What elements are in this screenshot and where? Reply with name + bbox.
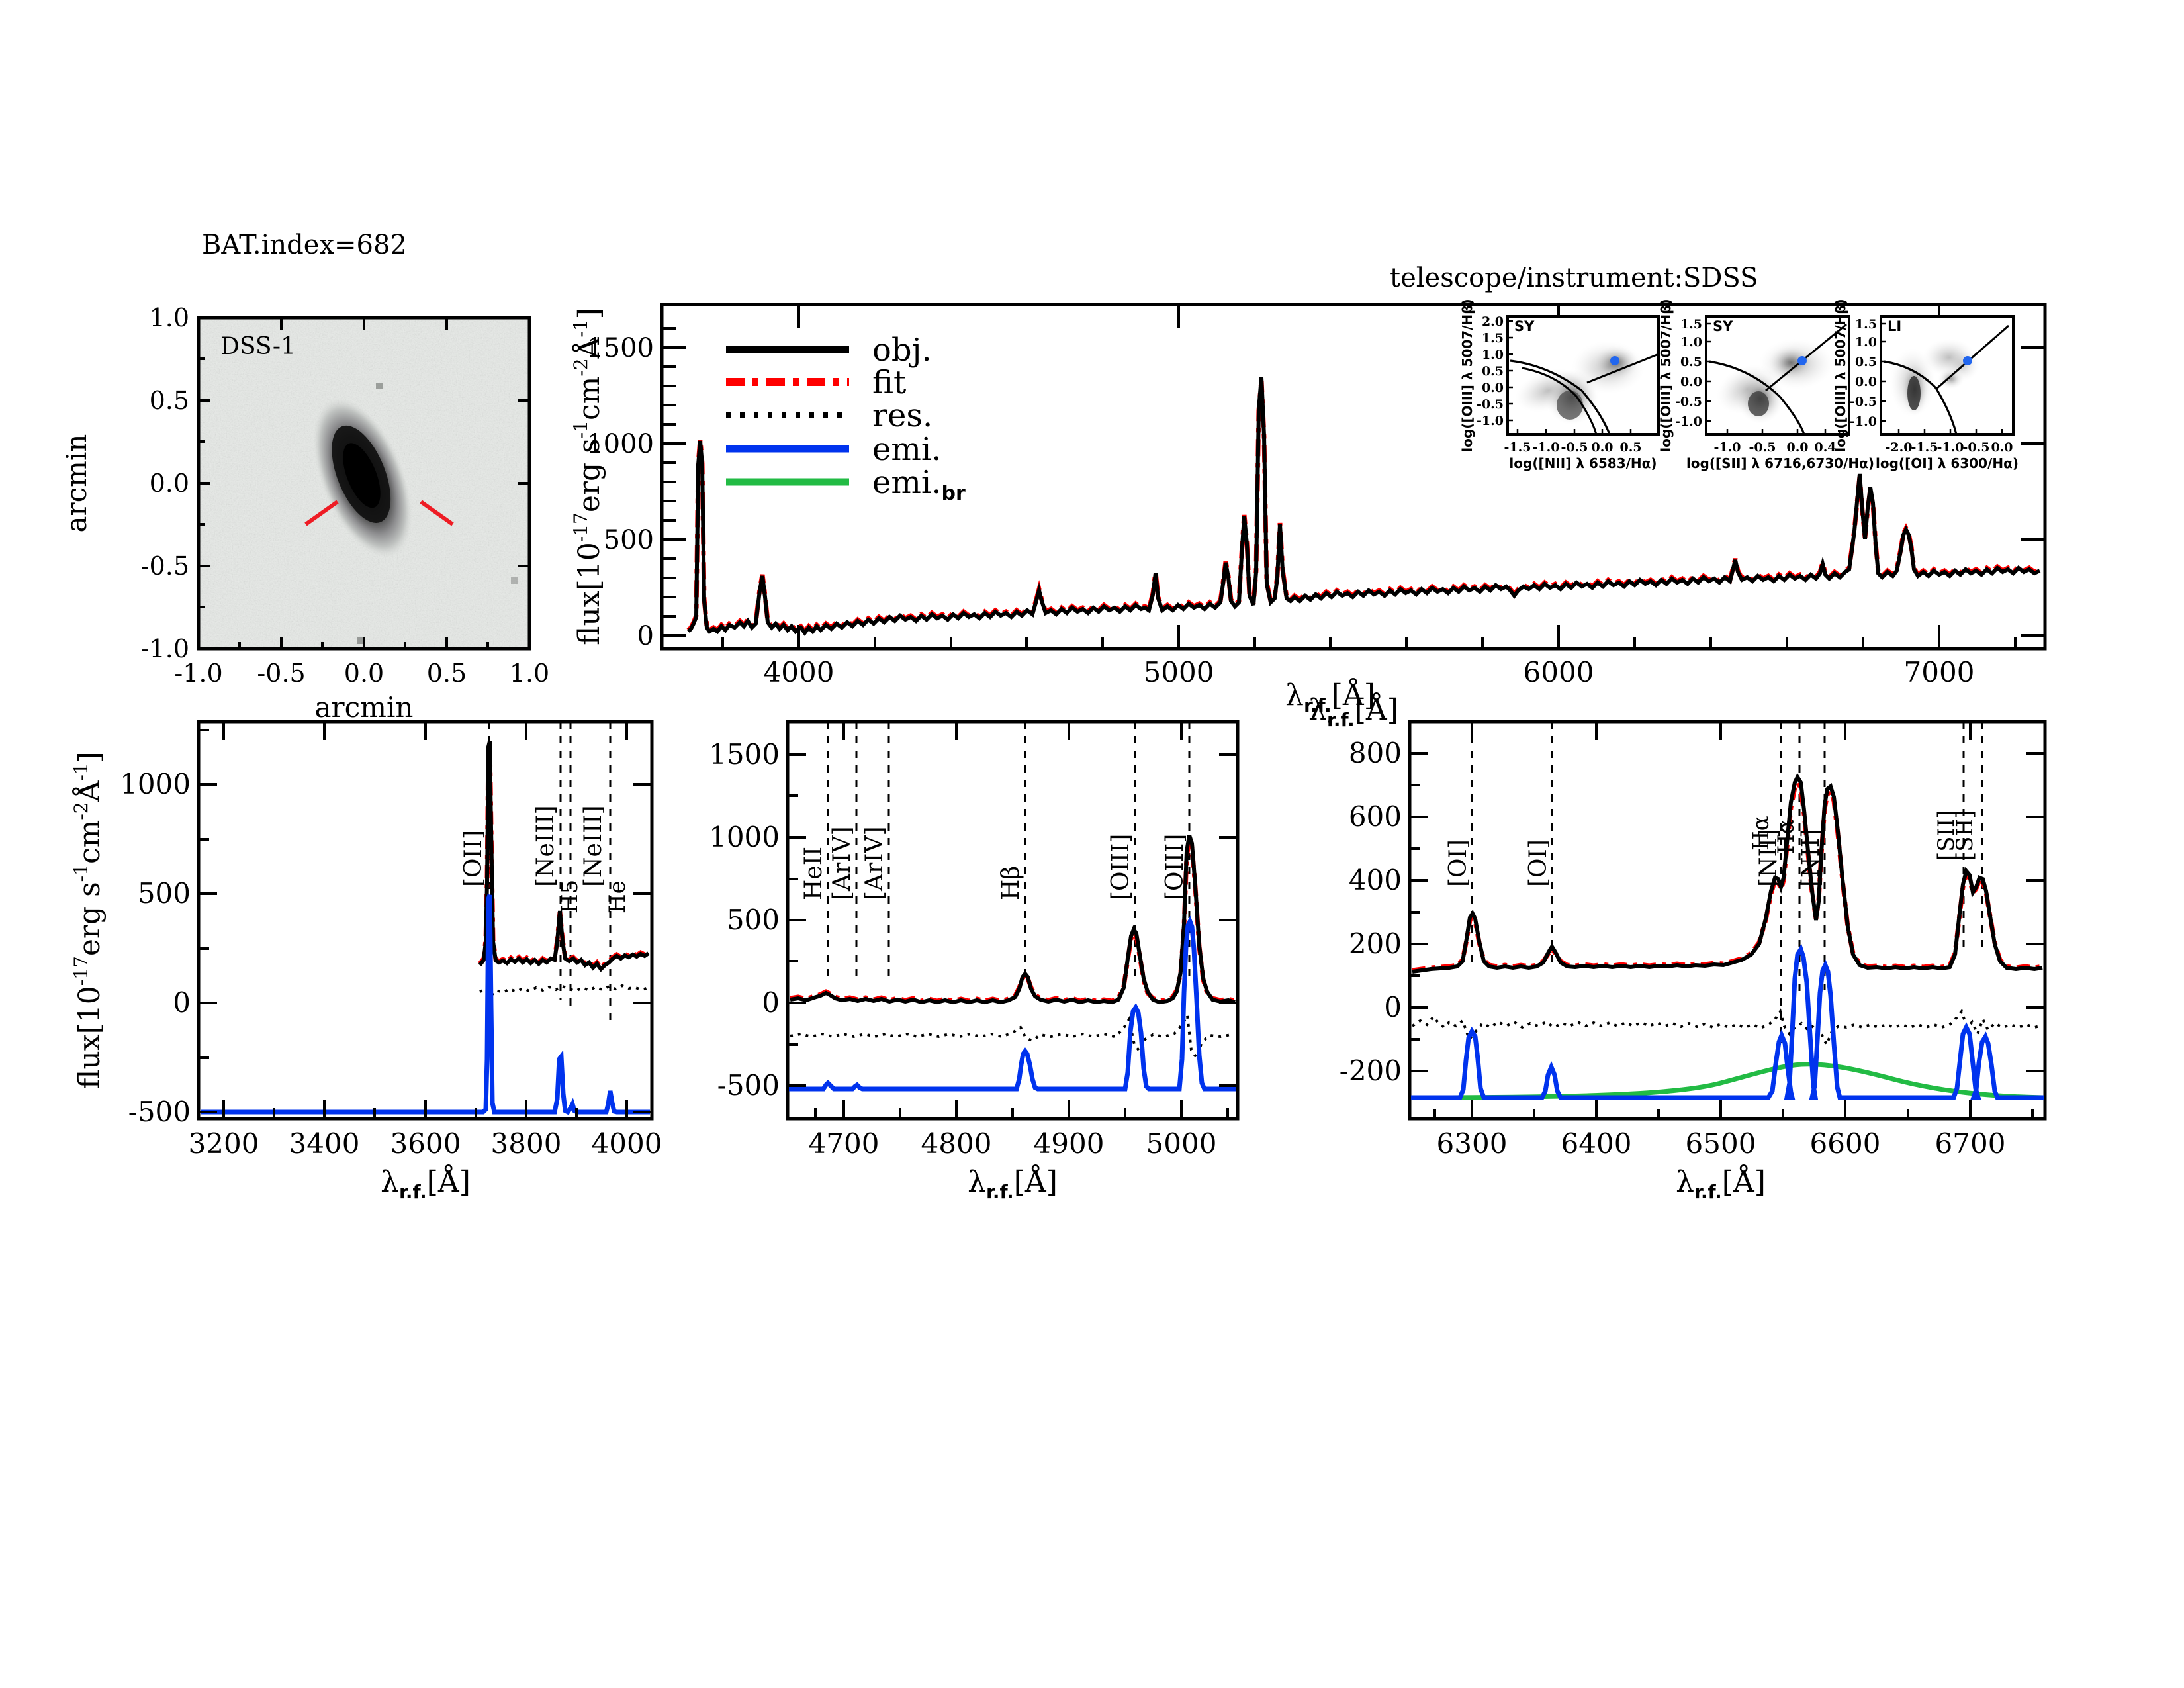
svg-text:He: He bbox=[604, 880, 631, 914]
svg-text:-0.5: -0.5 bbox=[1675, 395, 1702, 409]
svg-text:0.0: 0.0 bbox=[344, 659, 384, 688]
svg-text:0: 0 bbox=[1384, 991, 1402, 1023]
svg-text:-1.5: -1.5 bbox=[1911, 440, 1938, 455]
svg-text:1000: 1000 bbox=[709, 821, 780, 853]
bpt-nii-object-point bbox=[1610, 356, 1619, 365]
bpt-sii-class-label: SY bbox=[1713, 318, 1733, 334]
svg-text:7000: 7000 bbox=[1904, 656, 1975, 688]
svg-text:[NII]: [NII] bbox=[1797, 829, 1825, 887]
bpt-oi-xlabel: log([OI] λ 6300/Hα) bbox=[1876, 455, 2019, 471]
bpt-sii-xticklabels: -1.0 -0.5 0.0 0.4 bbox=[1714, 440, 1837, 455]
svg-text:6600: 6600 bbox=[1810, 1127, 1881, 1160]
svg-text:0.0: 0.0 bbox=[1591, 440, 1613, 455]
svg-text:0.5: 0.5 bbox=[1855, 355, 1877, 369]
dss-x-ticklabels: -1.0 -0.5 0.0 0.5 1.0 bbox=[174, 659, 549, 688]
svg-text:[OI]: [OI] bbox=[1445, 839, 1472, 887]
panel-halpha-top-lambda-label: λr.f.[Å] bbox=[1285, 677, 1375, 716]
svg-text:0.5: 0.5 bbox=[1619, 440, 1641, 455]
svg-text:500: 500 bbox=[604, 525, 654, 555]
svg-text:-0.5: -0.5 bbox=[1561, 440, 1588, 455]
svg-text:-500: -500 bbox=[128, 1096, 191, 1128]
svg-text:3600: 3600 bbox=[390, 1127, 461, 1160]
svg-text:[NeIII]: [NeIII] bbox=[580, 805, 607, 887]
panel-hbeta-oiii: HeII [ArIV] [ArIV] Hβ [OIII] [OIII] bbox=[709, 722, 1238, 1203]
svg-text:[OIII]: [OIII] bbox=[1161, 834, 1189, 900]
svg-text:H5: H5 bbox=[557, 880, 583, 914]
svg-text:0.5: 0.5 bbox=[1482, 364, 1504, 379]
figure-canvas: DSS-1 -1.0 -0.5 0.0 0.5 1.0 bbox=[0, 0, 2184, 1688]
svg-text:[NeIII]: [NeIII] bbox=[532, 805, 559, 887]
svg-text:0.0: 0.0 bbox=[1482, 381, 1504, 395]
svg-text:1.0: 1.0 bbox=[1680, 335, 1702, 350]
svg-text:500: 500 bbox=[727, 904, 780, 936]
svg-text:Hα: Hα bbox=[1773, 819, 1799, 854]
svg-text:-500: -500 bbox=[717, 1069, 780, 1102]
legend-label-fit: fit bbox=[872, 364, 906, 401]
svg-text:800: 800 bbox=[1349, 737, 1402, 769]
svg-text:0: 0 bbox=[762, 986, 780, 1019]
svg-text:3200: 3200 bbox=[189, 1127, 259, 1160]
svg-text:2.0: 2.0 bbox=[1482, 314, 1504, 329]
bpt-nii-class-label: SY bbox=[1514, 318, 1535, 334]
svg-text:0.5: 0.5 bbox=[150, 386, 189, 415]
svg-text:-0.5: -0.5 bbox=[257, 659, 305, 688]
svg-text:-1.0: -1.0 bbox=[1477, 414, 1504, 428]
svg-text:4700: 4700 bbox=[809, 1127, 880, 1160]
svg-text:1.0: 1.0 bbox=[150, 303, 189, 332]
bpt-nii-xlabel: log([NII] λ 6583/Hα) bbox=[1509, 455, 1657, 471]
svg-text:-1.0: -1.0 bbox=[141, 634, 189, 663]
bpt-nii-ylabel: log([OIII] λ 5007/Hβ) bbox=[1459, 299, 1475, 451]
svg-text:[OIII]: [OIII] bbox=[1107, 834, 1134, 900]
svg-text:1000: 1000 bbox=[120, 768, 191, 800]
bpt-oi-class-label: LI bbox=[1888, 318, 1901, 334]
bpt-nii-xticklabels: -1.5 -1.0 -0.5 0.0 0.5 bbox=[1504, 440, 1642, 455]
svg-text:-0.5: -0.5 bbox=[141, 551, 189, 581]
svg-text:3800: 3800 bbox=[491, 1127, 562, 1160]
dss-survey-label: DSS-1 bbox=[220, 333, 296, 360]
dss-y-ticklabels: -1.0 -0.5 0.0 0.5 1.0 bbox=[141, 303, 189, 663]
svg-text:[ArIV]: [ArIV] bbox=[829, 826, 856, 900]
svg-text:5000: 5000 bbox=[1146, 1127, 1217, 1160]
dss-xlabel: arcmin bbox=[315, 691, 414, 724]
panel-halpha-yticklabels: -200 0 200 400 600 800 bbox=[1340, 737, 1402, 1087]
svg-text:1500: 1500 bbox=[709, 738, 780, 771]
svg-text:[SII]: [SII] bbox=[1952, 810, 1978, 861]
bpt-oi-ylabel: log([OIII] λ 5007/Hβ) bbox=[1833, 299, 1848, 451]
dss-image-panel: DSS-1 -1.0 -0.5 0.0 0.5 1.0 bbox=[60, 303, 549, 724]
svg-text:1.0: 1.0 bbox=[1482, 348, 1504, 362]
svg-text:0.0: 0.0 bbox=[1680, 375, 1702, 389]
svg-text:[ArIV]: [ArIV] bbox=[861, 826, 888, 900]
bpt-sii-ylabel: log([OIII] λ 5007/Hβ) bbox=[1658, 299, 1674, 451]
legend-label-emi: emi. bbox=[872, 431, 942, 468]
legend-label-obj: obj. bbox=[872, 332, 932, 369]
svg-text:6400: 6400 bbox=[1561, 1127, 1632, 1160]
svg-text:500: 500 bbox=[138, 877, 191, 910]
svg-text:-1.0: -1.0 bbox=[1714, 440, 1741, 455]
panel-hbeta-xticklabels: 4700 4800 4900 5000 bbox=[809, 1127, 1217, 1160]
svg-text:200: 200 bbox=[1349, 927, 1402, 960]
svg-text:5000: 5000 bbox=[1144, 656, 1214, 688]
panel-halpha-nii-sii: [OI] [OI] Hα [NII] Hα [NII] [SII] [SII] bbox=[1285, 677, 2045, 1203]
svg-text:1.0: 1.0 bbox=[1855, 335, 1877, 350]
svg-text:Hβ: Hβ bbox=[997, 866, 1024, 900]
svg-text:-0.5: -0.5 bbox=[1850, 395, 1877, 409]
svg-text:-1.0: -1.0 bbox=[1937, 440, 1964, 455]
svg-text:4000: 4000 bbox=[592, 1127, 662, 1160]
svg-text:400: 400 bbox=[1349, 864, 1402, 896]
panel-oii-ylabel: flux[10-17erg s-1cm-2Å-1] bbox=[70, 751, 107, 1089]
svg-text:-2.0: -2.0 bbox=[1886, 440, 1913, 455]
svg-text:0: 0 bbox=[637, 621, 654, 651]
svg-text:6700: 6700 bbox=[1935, 1127, 2006, 1160]
svg-text:0.0: 0.0 bbox=[1786, 440, 1808, 455]
panel-hbeta-yticklabels: -500 0 500 1000 1500 bbox=[709, 738, 780, 1102]
svg-text:0.5: 0.5 bbox=[427, 659, 467, 688]
bpt-oi-object-point bbox=[1963, 356, 1972, 365]
svg-text:6300: 6300 bbox=[1437, 1127, 1508, 1160]
svg-text:-1.0: -1.0 bbox=[1533, 440, 1560, 455]
bpt-oi-xticklabels: -2.0 -1.5 -1.0 -0.5 0.0 bbox=[1886, 440, 2013, 455]
svg-text:1.5: 1.5 bbox=[1855, 317, 1877, 332]
legend-label-res: res. bbox=[872, 397, 933, 434]
panel-oii-yticklabels: -500 0 500 1000 bbox=[120, 768, 191, 1128]
svg-text:4900: 4900 bbox=[1034, 1127, 1105, 1160]
svg-text:0.0: 0.0 bbox=[1991, 440, 2013, 455]
svg-text:0.0: 0.0 bbox=[150, 469, 189, 498]
panel-oii: [OII] [NeIII] H5 [NeIII] He 3200 bbox=[70, 722, 662, 1203]
svg-text:6000: 6000 bbox=[1524, 656, 1594, 688]
svg-text:[OII]: [OII] bbox=[460, 830, 487, 887]
bpt-sii-xlabel: log([SII] λ 6716,6730/Hα) bbox=[1686, 455, 1874, 471]
svg-text:-0.5: -0.5 bbox=[1963, 440, 1990, 455]
svg-text:4000: 4000 bbox=[764, 656, 835, 688]
svg-text:-1.5: -1.5 bbox=[1504, 440, 1531, 455]
svg-text:6500: 6500 bbox=[1686, 1127, 1756, 1160]
svg-text:1.5: 1.5 bbox=[1482, 331, 1504, 346]
bpt-sii-object-point bbox=[1797, 356, 1807, 365]
svg-text:1.5: 1.5 bbox=[1680, 317, 1702, 332]
svg-text:600: 600 bbox=[1349, 800, 1402, 833]
svg-text:[OI]: [OI] bbox=[1525, 839, 1552, 887]
svg-text:-1.0: -1.0 bbox=[1675, 414, 1702, 429]
svg-text:4800: 4800 bbox=[921, 1127, 992, 1160]
svg-text:0.0: 0.0 bbox=[1855, 375, 1877, 389]
svg-text:-200: -200 bbox=[1340, 1055, 1402, 1087]
panel-hbeta-xlabel: λr.f.[Å] bbox=[968, 1164, 1058, 1203]
svg-text:0: 0 bbox=[173, 986, 191, 1019]
panel-halpha-xticklabels: 6300 6400 6500 6600 6700 bbox=[1437, 1127, 2006, 1160]
main-ylabel: flux[10-17erg s-1cm-2Å-1] bbox=[570, 308, 606, 645]
svg-text:3400: 3400 bbox=[289, 1127, 360, 1160]
svg-text:1.0: 1.0 bbox=[510, 659, 549, 688]
svg-text:-1.0: -1.0 bbox=[1850, 414, 1877, 429]
dss-ylabel: arcmin bbox=[60, 434, 93, 533]
svg-text:-0.5: -0.5 bbox=[1477, 397, 1504, 412]
svg-text:HeII: HeII bbox=[800, 847, 827, 900]
panel-oii-xticklabels: 3200 3400 3600 3800 4000 bbox=[189, 1127, 662, 1160]
panel-halpha-xlabel: λr.f.[Å] bbox=[1676, 1164, 1766, 1203]
panel-oii-xlabel: λr.f.[Å] bbox=[381, 1164, 471, 1203]
svg-text:0.5: 0.5 bbox=[1680, 355, 1702, 369]
svg-text:-0.5: -0.5 bbox=[1749, 440, 1776, 455]
